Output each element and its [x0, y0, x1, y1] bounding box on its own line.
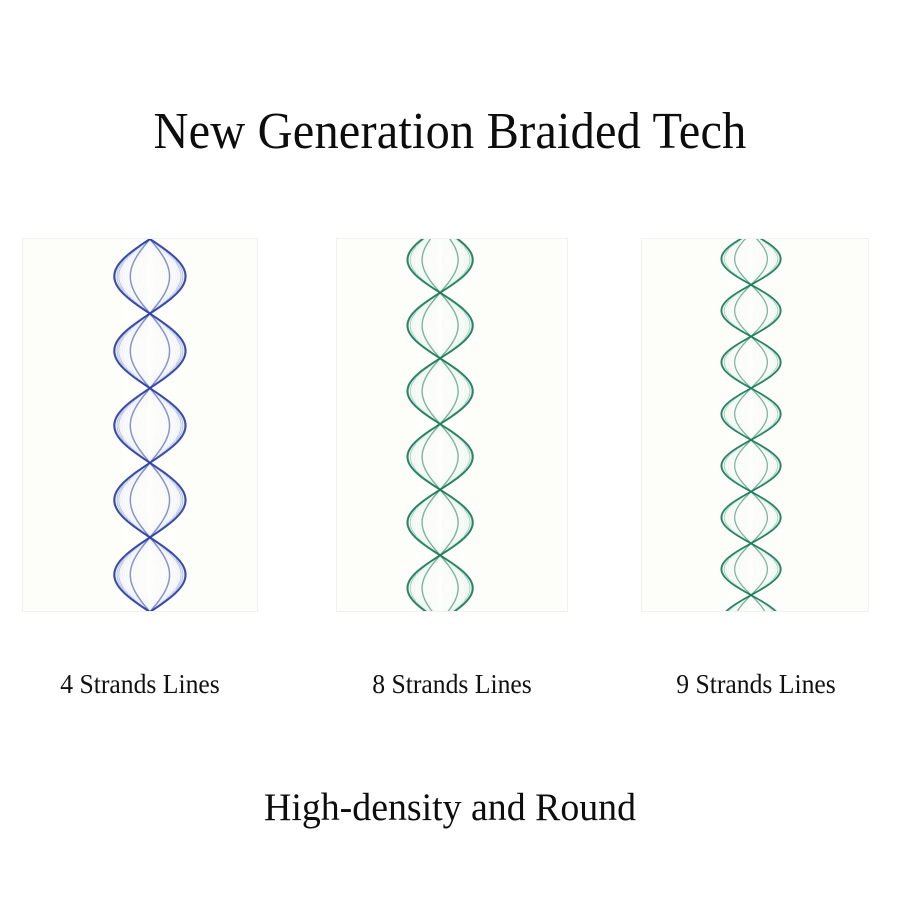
braid-illustration-9-strands: [642, 239, 868, 611]
caption-row: 4 Strands Lines 8 Strands Lines 9 Strand…: [0, 664, 900, 712]
braid-illustration-4-strands: [23, 239, 257, 611]
caption-4-strands: 4 Strands Lines: [17, 664, 264, 704]
footer-tagline: High-density and Round: [14, 783, 887, 833]
braid-panel-8-strands: [336, 238, 568, 612]
caption-8-strands: 8 Strands Lines: [329, 664, 576, 704]
braid-panel-4-strands: [22, 238, 258, 612]
page-title: New Generation Braided Tech: [32, 101, 869, 163]
braid-sample-row: [0, 238, 900, 614]
braid-illustration-8-strands: [337, 239, 567, 611]
product-graphic: New Generation Braided Tech 4 Strands Li…: [0, 0, 900, 900]
caption-9-strands: 9 Strands Lines: [634, 664, 877, 704]
braid-panel-9-strands: [641, 238, 869, 612]
